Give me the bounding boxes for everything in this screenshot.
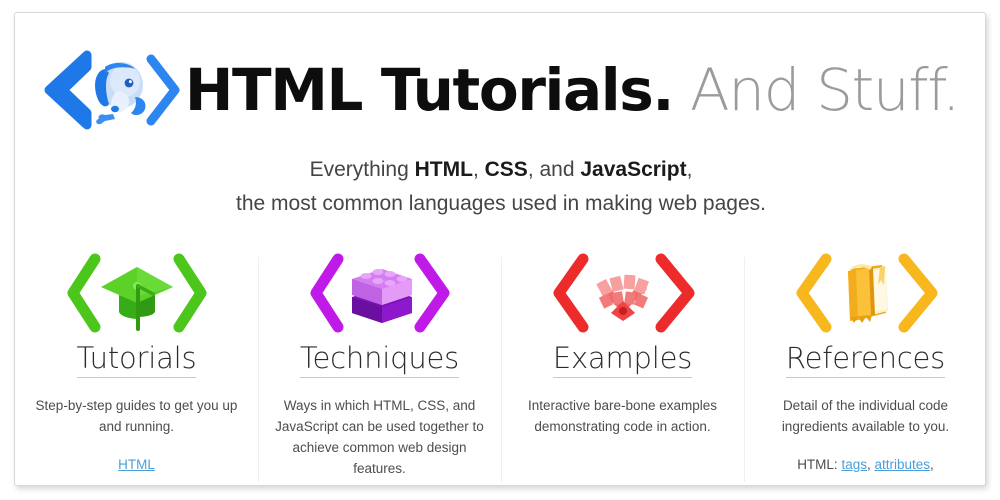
feature-description-tutorials: Step-by-step guides to get you up and ru… [25, 395, 248, 437]
amphitheater-fan-in-code-brackets-icon[interactable] [543, 251, 703, 335]
open-book-in-code-brackets-icon[interactable] [786, 251, 946, 335]
feature-column-examples: Examples Interactive bare-bone examples … [501, 251, 744, 479]
feature-links-tutorials: HTML [25, 454, 248, 475]
feature-description-references: Detail of the individual code ingredient… [754, 395, 977, 437]
lego-bricks-in-code-brackets-icon[interactable] [300, 251, 460, 335]
keyword-javascript: JavaScript [580, 158, 686, 181]
link-tags[interactable]: tags [841, 457, 867, 472]
links-comma: , [867, 457, 875, 472]
feature-title-link-tutorials[interactable]: Tutorials [25, 343, 248, 378]
feature-columns: Tutorials Step-by-step guides to get you… [15, 251, 986, 479]
feature-links-references: HTML: tags, attributes, [754, 454, 977, 475]
site-title-light: And Stuff. [673, 56, 959, 124]
keyword-html: HTML [415, 158, 473, 181]
feature-title-references: References [786, 343, 945, 378]
site-tagline: Everything HTML, CSS, and JavaScript, th… [15, 153, 986, 221]
page-title: HTML Tutorials. And Stuff. [185, 61, 959, 119]
links-prefix: HTML: [797, 457, 841, 472]
beagle-dog-in-code-brackets-icon[interactable] [43, 47, 179, 133]
feature-title-techniques: Techniques [300, 343, 459, 378]
feature-title-examples: Examples [553, 343, 692, 378]
tagline-line-2: the most common languages used in making… [15, 187, 986, 221]
feature-column-references: References Detail of the individual code… [744, 251, 986, 479]
site-masthead: HTML Tutorials. And Stuff. [15, 47, 986, 133]
feature-title-tutorials: Tutorials [77, 343, 197, 378]
feature-description-techniques: Ways in which HTML, CSS, and JavaScript … [268, 395, 491, 479]
tagline-pre: Everything [310, 158, 415, 181]
feature-title-link-techniques[interactable]: Techniques [268, 343, 491, 378]
site-title-strong: HTML Tutorials. [185, 56, 673, 124]
tagline-sep-2: , and [528, 158, 581, 181]
feature-title-link-examples[interactable]: Examples [511, 343, 734, 378]
feature-column-techniques: Techniques Ways in which HTML, CSS, and … [258, 251, 501, 479]
feature-column-tutorials: Tutorials Step-by-step guides to get you… [15, 251, 258, 479]
tagline-post: , [687, 158, 693, 181]
link-html[interactable]: HTML [118, 457, 155, 472]
tagline-sep-1: , [473, 158, 485, 181]
tagline-line-1: Everything HTML, CSS, and JavaScript, [15, 153, 986, 187]
link-attributes[interactable]: attributes [875, 457, 931, 472]
graduation-cap-in-code-brackets-icon[interactable] [57, 251, 217, 335]
feature-description-examples: Interactive bare-bone examples demonstra… [511, 395, 734, 437]
keyword-css: CSS [485, 158, 528, 181]
feature-title-link-references[interactable]: References [754, 343, 977, 378]
page-frame: HTML Tutorials. And Stuff. Everything HT… [14, 12, 986, 486]
links-suffix: , [930, 457, 934, 472]
